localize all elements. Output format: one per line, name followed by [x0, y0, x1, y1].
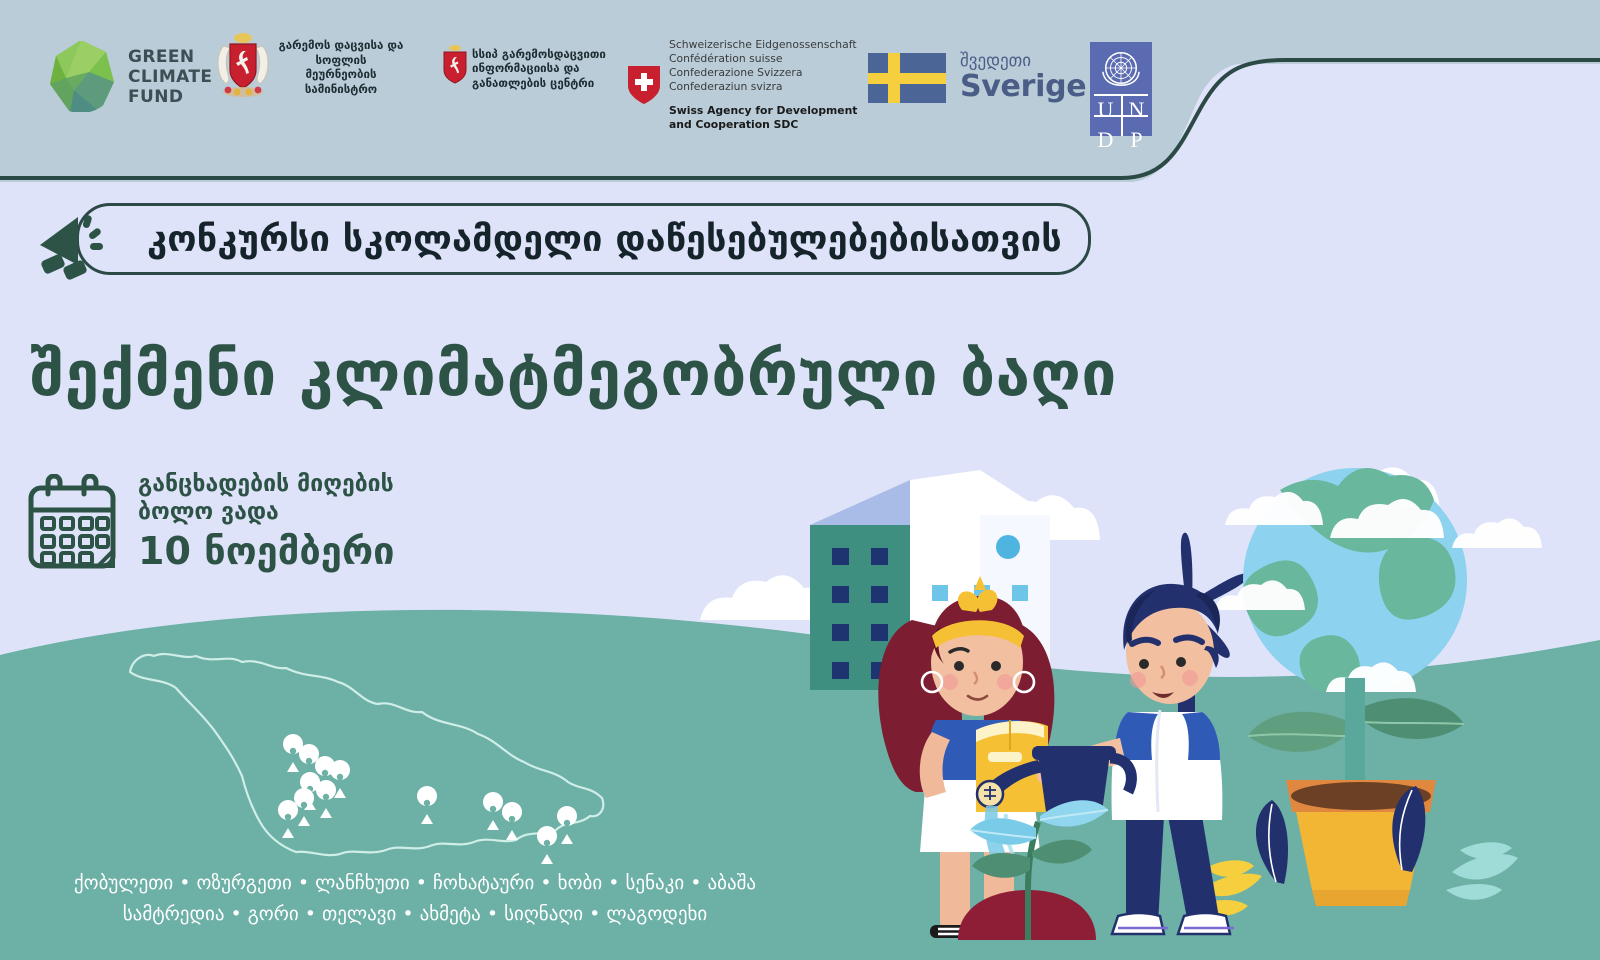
undp-letter-p: P: [1121, 125, 1152, 155]
location-pin-icon: [278, 800, 298, 838]
announcement-pill: კონკურსი სკოლამდელი დაწესებულებებისათვის: [76, 203, 1091, 275]
map-pins: [278, 734, 577, 864]
logo-ministry-environment: გარემოს დაცვისა და სოფლის მეურნეობის სამ…: [212, 30, 408, 104]
location-pin-icon: [483, 792, 503, 830]
swiss-caption: Schweizerische Eidgenossenschaft Confédé…: [669, 38, 857, 132]
logo-sweden: შვედეთი Sverige: [868, 52, 1086, 103]
ministry-caption: გარემოს დაცვისა და სოფლის მეურნეობის სამ…: [274, 38, 408, 96]
ministry-line-2: მეურნეობის სამინისტრო: [274, 67, 408, 96]
announcement-text: კონკურსი სკოლამდელი დაწესებულებებისათვის: [147, 219, 1062, 260]
logo-undp: U N D P: [1090, 42, 1152, 136]
georgia-map: [110, 630, 630, 894]
municipalities-list: ქობულეთი • ოზურგეთი • ლანჩხუთი • ჩოხატაუ…: [0, 868, 830, 930]
un-emblem-icon: [1090, 42, 1152, 94]
ministry-line-1: გარემოს დაცვისა და სოფლის: [274, 38, 408, 67]
location-pin-icon: [537, 826, 557, 864]
megaphone-icon: [34, 211, 108, 285]
georgia-coat-of-arms-icon: [212, 30, 274, 98]
deadline-line-1: განცხადების მიღების: [138, 470, 395, 498]
gcf-line-2: CLIMATE: [128, 67, 212, 87]
logo-environmental-info-centre: სსიპ გარემოსდაცვითი ინფორმაციისა და განა…: [435, 44, 607, 93]
swiss-bold-line-2: and Cooperation SDC: [669, 118, 857, 132]
municipalities-row-1: ქობულეთი • ოზურგეთი • ლანჩხუთი • ჩოხატაუ…: [0, 868, 830, 899]
partner-logos-bar: GREEN CLIMATE FUND: [0, 0, 1600, 185]
poster-root: GREEN CLIMATE FUND: [0, 0, 1600, 960]
undp-letter-u: U: [1090, 95, 1121, 125]
location-pin-icon: [316, 780, 336, 818]
page-title: შექმენი კლიმატმეგობრული ბაღი: [30, 337, 1117, 410]
gcf-polygon-globe-icon: [44, 38, 118, 116]
location-pin-icon: [557, 806, 577, 844]
centre-line-1: სსიპ გარემოსდაცვითი: [472, 47, 606, 62]
location-pin-icon: [502, 802, 522, 840]
location-pin-icon: [417, 786, 437, 824]
deadline-text: განცხადების მიღების ბოლო ვადა 10 ნოემბერ…: [138, 470, 395, 574]
municipalities-row-2: სამტრედია • გორი • თელავი • ახმეტა • სიღ…: [0, 899, 830, 930]
deadline-line-2: ბოლო ვადა: [138, 498, 395, 526]
swiss-bold-line-1: Swiss Agency for Development: [669, 104, 857, 118]
gcf-wordmark: GREEN CLIMATE FUND: [128, 47, 212, 107]
undp-letter-n: N: [1121, 95, 1152, 125]
sweden-flag-icon: [868, 53, 946, 103]
centre-caption: სსიპ გარემოსდაცვითი ინფორმაციისა და განა…: [472, 47, 606, 91]
logo-swiss-sdc: Schweizerische Eidgenossenschaft Confédé…: [628, 38, 857, 132]
centre-line-2: ინფორმაციისა და: [472, 61, 606, 76]
globe-plant-in-pot: [1196, 468, 1542, 916]
gcf-line-1: GREEN: [128, 47, 212, 67]
swiss-line-3: Confederazione Svizzera: [669, 66, 857, 80]
logo-green-climate-fund: GREEN CLIMATE FUND: [44, 38, 212, 116]
deadline-block: განცხადების მიღების ბოლო ვადა 10 ნოემბერ…: [26, 470, 395, 574]
sweden-label-en: Sverige: [960, 71, 1086, 103]
georgia-shield-icon: [438, 44, 472, 86]
deadline-date: 10 ნოემბერი: [138, 528, 395, 574]
swiss-shield-icon: [628, 66, 660, 104]
sweden-wordmark: შვედეთი Sverige: [960, 52, 1086, 103]
announcement-banner: კონკურსი სკოლამდელი დაწესებულებებისათვის: [34, 203, 1091, 275]
centre-line-3: განათლების ცენტრი: [472, 76, 606, 91]
swiss-line-4: Confederaziun svizra: [669, 80, 857, 94]
undp-letter-d: D: [1090, 125, 1121, 155]
swiss-line-1: Schweizerische Eidgenossenschaft: [669, 38, 857, 52]
swiss-line-2: Confédération suisse: [669, 52, 857, 66]
gcf-line-3: FUND: [128, 87, 212, 107]
calendar-icon: [26, 474, 118, 572]
